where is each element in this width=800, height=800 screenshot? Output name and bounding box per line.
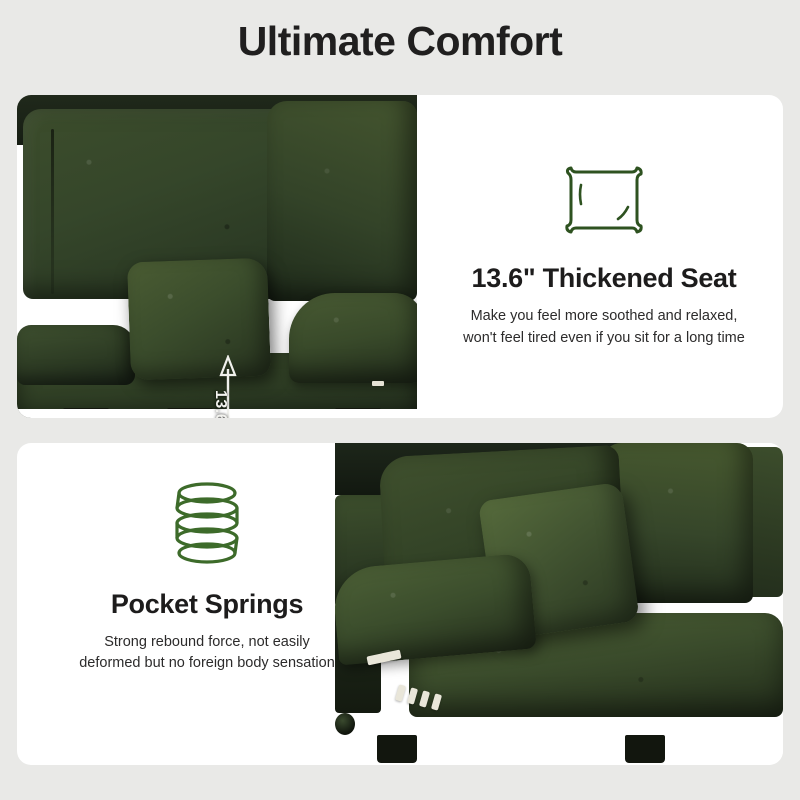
page-title: Ultimate Comfort [0,18,800,65]
sofa-leg [625,735,665,763]
armchair-seat-left [17,325,135,385]
sofa-photo [335,443,783,765]
feature-description-line-2: deformed but no foreign body sensation [79,653,335,674]
fabric-tag [372,381,384,386]
feature-description-line-2: won't feel tired even if you sit for a l… [463,328,745,349]
cushion-icon [558,163,650,237]
dimension-label: 13.6" [211,390,229,418]
armchair-armrest [289,293,417,383]
sofa-arm-knob [335,713,355,735]
feature-panel-pocket-springs: Pocket Springs Strong rebound force, not… [17,443,783,765]
feature-title: 13.6" Thickened Seat [472,263,737,294]
armchair-back-right [267,101,417,301]
infographic-root: Ultimate Comfort [0,0,800,800]
armchair-photo: 13.6" [17,95,417,418]
armchair-throw-pillow [127,258,271,381]
feature-description-line-1: Make you feel more soothed and relaxed, [463,306,745,327]
feature-title: Pocket Springs [111,589,303,620]
feature-description-line-1: Strong rebound force, not easily [79,632,335,653]
fabric-tag [395,684,406,701]
spring-coil-icon [167,481,247,567]
feature-description: Strong rebound force, not easily deforme… [79,632,335,674]
feature-block-pocket-springs: Pocket Springs Strong rebound force, not… [37,481,377,721]
sofa-leg [377,735,417,763]
feature-panel-thickened-seat: 13.6" 13.6" Thickened Seat Make you feel… [17,95,783,418]
feature-block-thickened-seat: 13.6" Thickened Seat Make you feel more … [425,113,783,399]
feature-description: Make you feel more soothed and relaxed, … [463,306,745,348]
backrest-seam [51,129,54,294]
sofa-armrest [335,553,537,666]
